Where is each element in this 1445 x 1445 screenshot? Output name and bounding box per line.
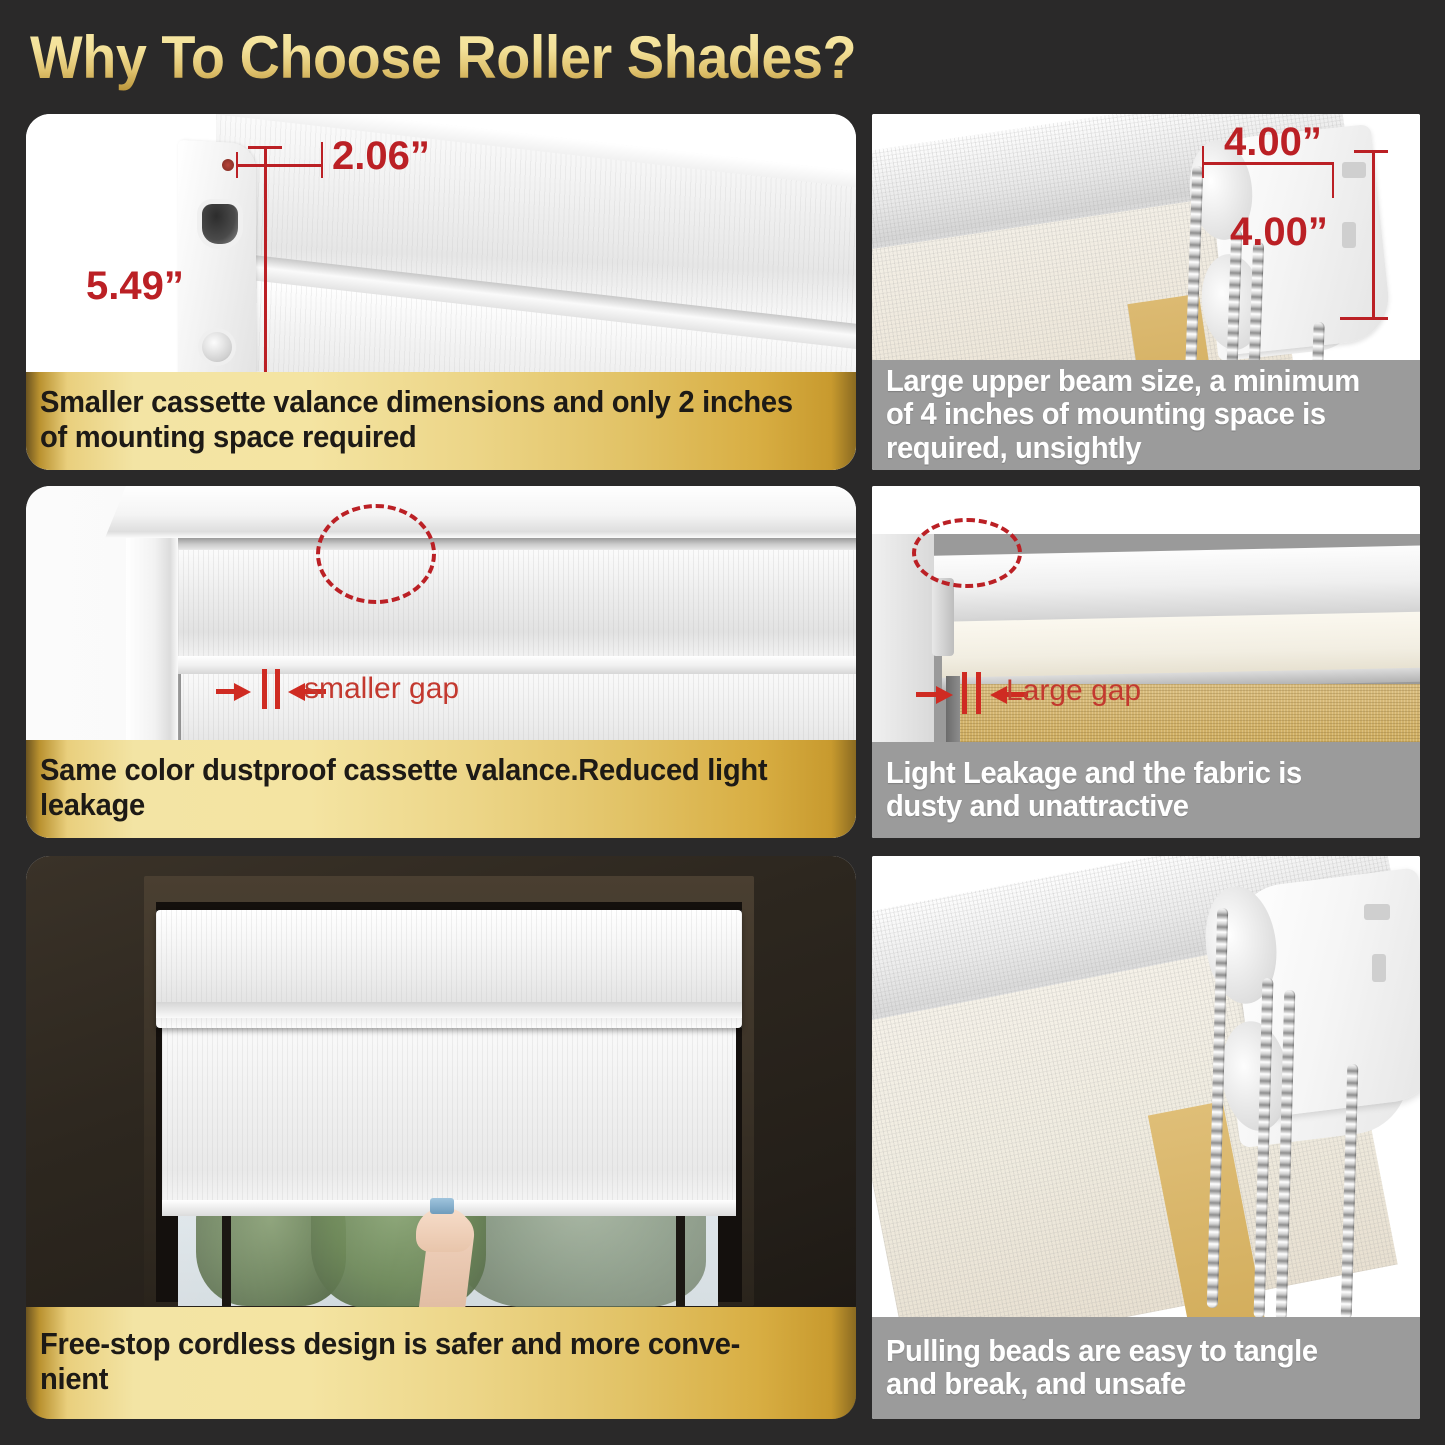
caption-bar-bottom-left: Free-stop cordless design is safer and m… xyxy=(26,1307,856,1419)
gap-tick-a-2 xyxy=(962,672,967,714)
bracket-pin-icon xyxy=(222,159,234,171)
caption-text-bottom-left: Free-stop cordless design is safer and m… xyxy=(40,1327,794,1396)
dimension-label-height: 5.49” xyxy=(86,264,184,309)
gap-arrow-left-icon-2 xyxy=(990,686,1007,704)
gap-label-smaller: smaller gap xyxy=(304,672,459,706)
window-frame-top xyxy=(105,486,856,538)
gap-arrow-right-icon-2 xyxy=(936,686,953,704)
panel-middle-left[interactable]: smaller gap Same color dustproof cassett… xyxy=(26,486,856,838)
side-bracket xyxy=(932,578,954,656)
dimension-label-width-2: 4.00” xyxy=(1224,120,1322,165)
roller-shade-panel xyxy=(162,1018,736,1208)
bracket-notch-1-icon-2 xyxy=(1364,904,1390,920)
panel-bottom-left[interactable]: Free-stop cordless design is safer and m… xyxy=(26,856,856,1419)
dimension-label-width: 2.06” xyxy=(332,134,430,179)
gap-tick-b-2 xyxy=(976,672,981,714)
gap-label-large: Large gap xyxy=(1006,674,1141,708)
shade-headrail xyxy=(178,538,856,550)
roller-shade-texture xyxy=(162,1018,736,1208)
comparison-grid: 2.06” 5.49” Smaller cassette valance dim… xyxy=(0,0,1445,1445)
infographic-root: Why To Choose Roller Shades? xyxy=(0,0,1445,1445)
gap-arrow-left-icon xyxy=(288,683,305,701)
dim-tick-bottom-2 xyxy=(1340,317,1388,320)
highlight-ellipse-icon xyxy=(316,504,436,604)
dim-tick-right xyxy=(321,142,323,178)
caption-text-bottom-right: Pulling beads are easy to tangle and bre… xyxy=(886,1334,1375,1401)
dim-line-width xyxy=(236,164,323,167)
bracket-notch-1-icon xyxy=(1342,162,1366,178)
gap-tick-b xyxy=(275,669,280,709)
bracket-notch-2-icon-2 xyxy=(1372,954,1386,982)
caption-text-top-right: Large upper beam size, a minimum of 4 in… xyxy=(886,364,1375,464)
caption-bar-top-right: Large upper beam size, a minimum of 4 in… xyxy=(872,360,1420,470)
bracket-slot-icon xyxy=(202,204,238,244)
gap-tick-a xyxy=(262,669,267,709)
pull-tab xyxy=(430,1198,454,1214)
panel-bottom-right[interactable]: Pulling beads are easy to tangle and bre… xyxy=(872,856,1420,1419)
cassette-valance-lip xyxy=(156,1002,742,1018)
panel-middle-right[interactable]: Large gap Light Leakage and the fabric i… xyxy=(872,486,1420,838)
dim-tick-top xyxy=(248,146,282,149)
caption-bar-bottom-right: Pulling beads are easy to tangle and bre… xyxy=(872,1317,1420,1419)
hand-fingers xyxy=(416,1208,472,1252)
bracket-screw-icon xyxy=(202,332,232,362)
caption-text-middle-right: Light Leakage and the fabric is dusty an… xyxy=(886,756,1375,823)
gap-arrow-right-stem-2 xyxy=(916,692,938,697)
dim-line-height-2 xyxy=(1372,150,1375,320)
window-shade-upper xyxy=(178,550,856,660)
bracket-notch-2-icon xyxy=(1342,222,1356,248)
panel-top-left[interactable]: 2.06” 5.49” Smaller cassette valance dim… xyxy=(26,114,856,470)
dim-tick-top-2 xyxy=(1354,150,1388,153)
gap-arrow-right-stem xyxy=(216,689,238,694)
caption-bar-top-left: Smaller cassette valance dimensions and … xyxy=(26,372,856,470)
dim-tick-right-2 xyxy=(1332,162,1334,198)
dimension-label-height-2: 4.00” xyxy=(1230,210,1328,255)
caption-bar-middle-left: Same color dustproof cassette valance.Re… xyxy=(26,740,856,838)
caption-text-top-left: Smaller cassette valance dimensions and … xyxy=(40,385,794,454)
panel-top-right[interactable]: 4.00” 4.00” Large upper beam size, a min… xyxy=(872,114,1420,470)
shade-upper-texture xyxy=(178,550,856,660)
caption-text-middle-left: Same color dustproof cassette valance.Re… xyxy=(40,753,794,822)
caption-bar-middle-right: Light Leakage and the fabric is dusty an… xyxy=(872,742,1420,838)
highlight-ellipse-icon-2 xyxy=(912,518,1022,588)
